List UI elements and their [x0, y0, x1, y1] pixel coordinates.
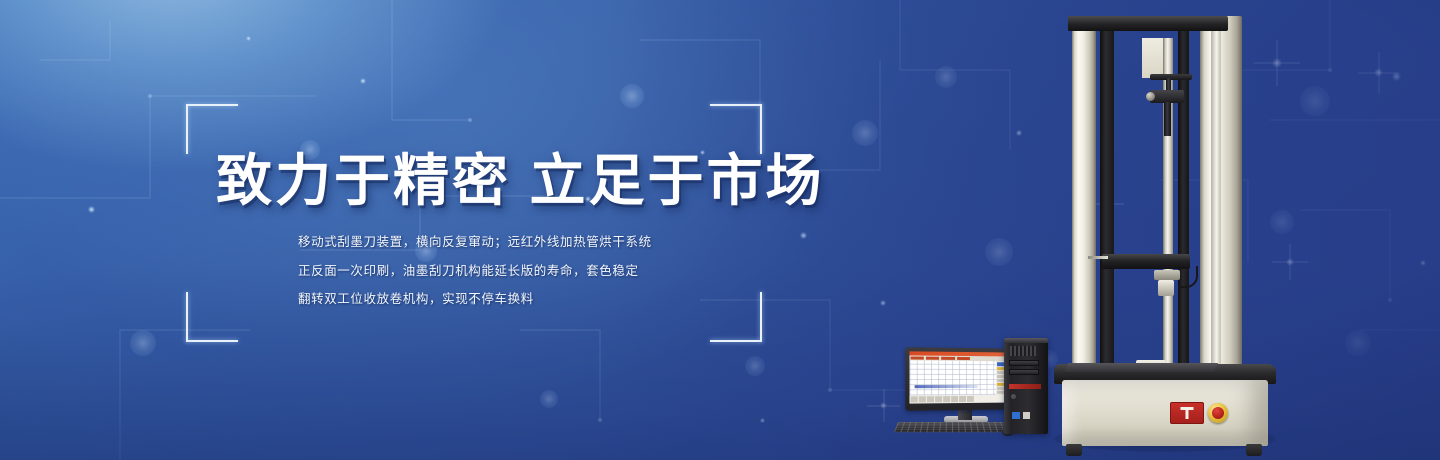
corner-bracket-bottom-right: [710, 292, 762, 342]
subline-2: 正反面一次印刷，油墨刮刀机构能延长版的寿命，套色稳定: [298, 257, 652, 286]
tower-drive-bay: [1009, 360, 1039, 366]
machine-top-crossbar: [1068, 16, 1228, 31]
headline-frame: 致力于精密 立足于市场 移动式刮墨刀装置，横向反复窜动；远红外线加热管烘干系统 …: [186, 104, 762, 342]
tower-brand-badge: [1023, 412, 1030, 419]
tower-accent-stripe: [1009, 384, 1041, 389]
machine-crosshead: [1102, 254, 1190, 269]
control-workstation-image: [898, 336, 1050, 452]
hero-banner: 致力于精密 立足于市场 移动式刮墨刀装置，横向反复窜动；远红外线加热管烘干系统 …: [0, 0, 1440, 460]
subline-1: 移动式刮墨刀装置，横向反复窜动；远红外线加热管烘干系统: [298, 228, 652, 257]
emergency-stop-button[interactable]: [1208, 403, 1228, 423]
machine-base-top-face: [1064, 363, 1218, 372]
machine-base-cabinet: [1062, 380, 1268, 446]
software-chart-curve: [915, 385, 978, 388]
subline-3: 翻转双工位收放卷机构，实现不停车换料: [298, 285, 652, 314]
tower-vents: [1010, 346, 1036, 356]
universal-testing-machine-image: [1050, 8, 1280, 456]
software-chart-area: [909, 360, 996, 395]
machine-foot-right: [1246, 444, 1262, 456]
tower-top-panel: [1004, 338, 1048, 343]
banner-sublines: 移动式刮墨刀装置，横向反复窜动；远红外线加热管烘干系统 正反面一次印刷，油墨刮刀…: [298, 228, 652, 314]
pc-tower: [1004, 338, 1048, 434]
banner-headline: 致力于精密 立足于市场: [216, 136, 825, 217]
machine-foot-left: [1066, 444, 1082, 456]
machine-upper-mount: [1150, 74, 1192, 80]
machine-inner-guide-right: [1178, 30, 1189, 402]
machine-left-column: [1072, 30, 1096, 418]
corner-bracket-bottom-left: [186, 292, 238, 342]
tower-drive-bay: [1009, 369, 1039, 375]
tower-logo-badge: [1012, 412, 1020, 419]
machine-inner-guide-left: [1100, 26, 1114, 404]
tower-power-button: [1011, 394, 1016, 399]
machine-control-panel: [1170, 402, 1204, 424]
power-symbol-icon: [1181, 407, 1194, 419]
keyboard: [894, 422, 1010, 432]
machine-grip-knob: [1146, 92, 1155, 101]
machine-sensor-cable: [1178, 266, 1198, 288]
machine-crosshead-arm: [1088, 256, 1108, 259]
machine-grip-stem: [1164, 102, 1171, 136]
machine-lower-grip: [1154, 270, 1180, 280]
machine-lower-grip-body: [1158, 280, 1174, 296]
